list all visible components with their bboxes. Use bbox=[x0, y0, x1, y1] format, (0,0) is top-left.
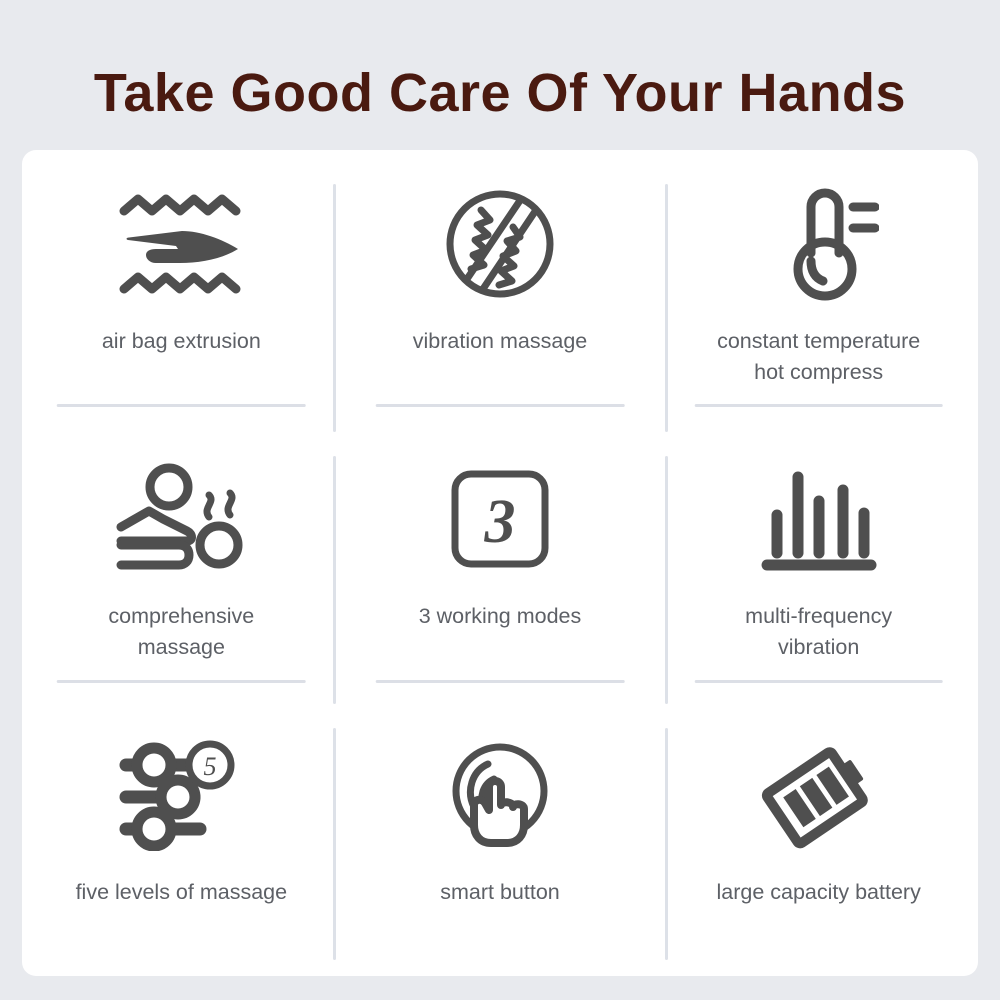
feature-cell-smart-button: smart button bbox=[341, 701, 660, 976]
person-massage-table-icon bbox=[22, 459, 341, 579]
feature-cell-comprehensive-massage: comprehensive massage bbox=[22, 425, 341, 700]
feature-cell-multi-frequency: multi-frequency vibration bbox=[659, 425, 978, 700]
circle-diagonal-zigzag-icon bbox=[341, 184, 660, 304]
feature-label: five levels of massage bbox=[35, 877, 328, 908]
feature-label: smart button bbox=[353, 877, 646, 908]
feature-label: air bag extrusion bbox=[35, 326, 328, 357]
tilted-battery-icon bbox=[659, 735, 978, 855]
hand-between-zigzags-icon bbox=[22, 184, 341, 304]
feature-label: large capacity battery bbox=[672, 877, 965, 908]
thermometer-icon bbox=[659, 184, 978, 304]
feature-cell-vibration-massage: vibration massage bbox=[341, 150, 660, 425]
feature-label: comprehensive massage bbox=[35, 601, 328, 663]
feature-label: 3 working modes bbox=[353, 601, 646, 632]
feature-label: multi-frequency vibration bbox=[672, 601, 965, 663]
feature-cell-battery: large capacity battery bbox=[659, 701, 978, 976]
touch-hand-icon bbox=[341, 735, 660, 855]
feature-card: air bag extrusion vibration massage bbox=[22, 150, 978, 976]
sliders-five-icon: 5 bbox=[22, 735, 341, 855]
feature-cell-air-bag-extrusion: air bag extrusion bbox=[22, 150, 341, 425]
feature-cell-constant-temperature: constant temperature hot compress bbox=[659, 150, 978, 425]
feature-label: constant temperature hot compress bbox=[672, 326, 965, 388]
feature-label: vibration massage bbox=[353, 326, 646, 357]
badge-number-5: 5 bbox=[204, 752, 217, 781]
page-title: Take Good Care Of Your Hands bbox=[0, 62, 1000, 124]
badge-number-3: 3 bbox=[483, 488, 515, 556]
rounded-square-three-icon: 3 bbox=[341, 459, 660, 579]
feature-cell-five-levels: 5 five levels of massage bbox=[22, 701, 341, 976]
frequency-bars-icon bbox=[659, 459, 978, 579]
product-feature-infographic: Take Good Care Of Your Hands air bag ext… bbox=[0, 0, 1000, 1000]
feature-cell-working-modes: 3 3 working modes bbox=[341, 425, 660, 700]
feature-grid: air bag extrusion vibration massage bbox=[22, 150, 978, 976]
